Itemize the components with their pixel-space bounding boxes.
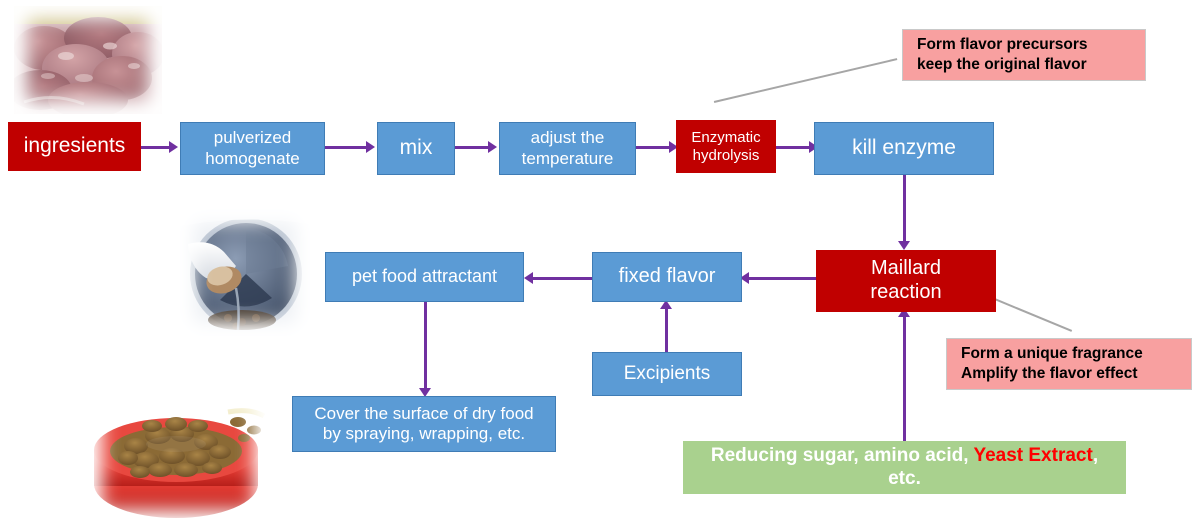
inputs-suffix: , <box>1093 445 1098 466</box>
arrow-mix-to-adjust <box>455 140 499 154</box>
annotation-line2: Amplify the flavor effect <box>961 365 1138 382</box>
node-reducing-sugar-inputs[interactable]: Reducing sugar, amino acid, Yeast Extrac… <box>683 441 1126 494</box>
node-pet-food-attractant[interactable]: pet food attractant <box>325 252 524 302</box>
coating-drum-photo <box>180 208 310 336</box>
annotation-text: Form flavor precursors keep the original… <box>917 35 1088 75</box>
node-enzymatic-hydrolysis[interactable]: Enzymatic hydrolysis <box>676 120 776 173</box>
node-label: Enzymatic hydrolysis <box>691 129 760 164</box>
arrow-adjust-to-enzymatic <box>636 140 680 154</box>
node-label-line2: reaction <box>870 281 941 303</box>
node-kill-enzyme[interactable]: kill enzyme <box>814 122 994 175</box>
node-label: Maillard reaction <box>870 257 941 304</box>
flowchart-canvas: ingresients pulverized homogenate mix ad… <box>0 0 1200 528</box>
arrow-attractant-to-cover-surface <box>418 302 432 398</box>
node-excipients[interactable]: Excipients <box>592 352 742 396</box>
node-cover-surface[interactable]: Cover the surface of dry food by sprayin… <box>292 396 556 452</box>
annotation-line1: Form a unique fragrance <box>961 345 1143 362</box>
node-label-line1: pulverized <box>214 128 292 147</box>
node-label-line2: by spraying, wrapping, etc. <box>323 424 525 443</box>
node-ingredients[interactable]: ingresients <box>8 122 141 171</box>
annotation-line2: keep the original flavor <box>917 56 1087 73</box>
node-label: adjust the temperature <box>522 128 614 168</box>
annotation-flavor-precursors: Form flavor precursors keep the original… <box>902 29 1146 81</box>
node-label-line1: Enzymatic <box>691 129 760 146</box>
arrow-kill-enzyme-to-maillard <box>897 175 911 251</box>
raw-meat-photo <box>14 6 162 114</box>
arrow-maillard-to-fixed-flavor <box>740 271 818 285</box>
node-label-line2: hydrolysis <box>693 147 760 164</box>
node-label-line1: adjust the <box>531 128 605 147</box>
inputs-line2: etc. <box>888 468 921 489</box>
arrow-fixed-flavor-to-attractant <box>524 271 592 285</box>
node-label: pulverized homogenate <box>205 128 300 168</box>
arrow-ingredients-to-pulverized <box>140 140 180 154</box>
arrow-pulverized-to-mix <box>325 140 377 154</box>
annotation-line1: Form flavor precursors <box>917 36 1088 53</box>
kibble-bowl-photo <box>88 388 268 524</box>
inputs-prefix: Reducing sugar, amino acid, <box>711 445 974 466</box>
arrow-excipients-to-fixed-flavor <box>659 300 673 352</box>
node-adjust-temperature[interactable]: adjust the temperature <box>499 122 636 175</box>
node-label-line2: homogenate <box>205 149 300 168</box>
node-maillard-reaction[interactable]: Maillard reaction <box>816 250 996 312</box>
node-label: Reducing sugar, amino acid, Yeast Extrac… <box>711 445 1098 490</box>
node-pulverized-homogenate[interactable]: pulverized homogenate <box>180 122 325 175</box>
leader-line-enzymatic-to-note <box>714 58 897 102</box>
annotation-unique-fragrance: Form a unique fragrance Amplify the flav… <box>946 338 1192 390</box>
node-label: Cover the surface of dry food by sprayin… <box>314 404 533 444</box>
node-fixed-flavor[interactable]: fixed flavor <box>592 252 742 302</box>
node-mix[interactable]: mix <box>377 122 455 175</box>
node-label-line1: Maillard <box>871 257 941 279</box>
arrow-reducing-sugar-to-maillard <box>897 308 911 443</box>
leader-line-maillard-to-note <box>985 294 1072 331</box>
node-label-line1: Cover the surface of dry food <box>314 404 533 423</box>
yeast-extract-highlight: Yeast Extract <box>973 445 1092 466</box>
node-label-line2: temperature <box>522 149 614 168</box>
annotation-text: Form a unique fragrance Amplify the flav… <box>961 344 1143 384</box>
